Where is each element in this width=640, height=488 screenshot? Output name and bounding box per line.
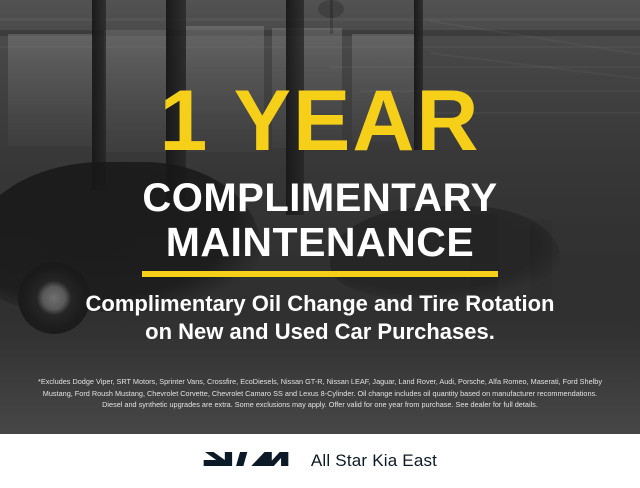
tagline-line-2: on New and Used Car Purchases. <box>0 318 640 346</box>
headline-year: 1 YEAR <box>0 78 640 164</box>
footer-brand-lockup: All Star Kia East <box>203 446 437 477</box>
headline-complimentary: COMPLIMENTARY <box>0 176 640 220</box>
headline-maintenance: MAINTENANCE <box>0 220 640 265</box>
tagline-block: Complimentary Oil Change and Tire Rotati… <box>0 290 640 346</box>
headline-subtitle-block: COMPLIMENTARY MAINTENANCE <box>0 176 640 265</box>
yellow-divider-rule <box>142 271 498 277</box>
disclaimer-line-2: Mustang, Ford Roush Mustang, Chevrolet C… <box>14 388 626 400</box>
tagline-line-1: Complimentary Oil Change and Tire Rotati… <box>0 290 640 318</box>
promo-advertisement: 1 YEAR COMPLIMENTARY MAINTENANCE Complim… <box>0 0 640 488</box>
disclaimer-block: *Excludes Dodge Viper, SRT Motors, Sprin… <box>14 376 626 411</box>
dealer-footer: All Star Kia East <box>0 434 640 488</box>
disclaimer-line-3: Diesel and synthetic upgrades are extra.… <box>14 399 626 411</box>
dealer-name: All Star Kia East <box>311 451 437 471</box>
promo-copy: 1 YEAR COMPLIMENTARY MAINTENANCE Complim… <box>0 0 640 488</box>
disclaimer-line-1: *Excludes Dodge Viper, SRT Motors, Sprin… <box>14 376 626 388</box>
kia-logo-icon <box>203 446 289 477</box>
